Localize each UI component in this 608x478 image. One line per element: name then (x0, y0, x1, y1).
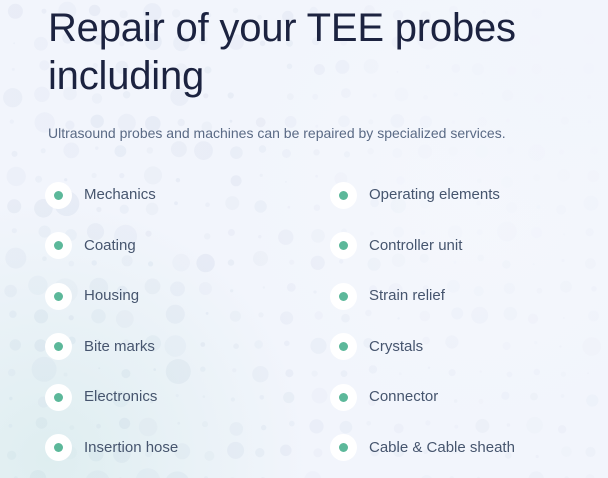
list-item-label: Electronics (84, 387, 157, 407)
list-item: Electronics (45, 372, 325, 423)
list-item: Operating elements (330, 170, 608, 221)
bullet-dot-icon (330, 333, 357, 360)
bullet-dot-icon (330, 384, 357, 411)
list-item-label: Housing (84, 286, 139, 306)
list-item: Connector (330, 372, 608, 423)
list-item: Strain relief (330, 271, 608, 322)
list-item-label: Mechanics (84, 185, 156, 205)
list-item-label: Insertion hose (84, 438, 178, 458)
list-item-label: Connector (369, 387, 438, 407)
list-item: Cable & Cable sheath (330, 423, 608, 474)
list-item: Insertion hose (45, 423, 325, 474)
page-title: Repair of your TEE probes including (48, 4, 568, 100)
list-item-label: Cable & Cable sheath (369, 438, 515, 458)
list-item-label: Crystals (369, 337, 423, 357)
bullet-dot-icon (45, 232, 72, 259)
bullet-dot-icon (330, 232, 357, 259)
list-item-label: Bite marks (84, 337, 155, 357)
bullet-dot-icon (45, 283, 72, 310)
list-item-label: Strain relief (369, 286, 445, 306)
feature-column-left: Mechanics Coating Housing Bite marks Ele… (45, 170, 325, 473)
bullet-dot-icon (330, 283, 357, 310)
bullet-dot-icon (330, 434, 357, 461)
bullet-dot-icon (45, 182, 72, 209)
bullet-dot-icon (330, 182, 357, 209)
list-item: Crystals (330, 322, 608, 373)
list-item-label: Operating elements (369, 185, 500, 205)
list-item: Coating (45, 221, 325, 272)
section-subtitle: Ultrasound probes and machines can be re… (48, 123, 578, 143)
repair-services-section: Repair of your TEE probes including Ultr… (0, 0, 608, 478)
bullet-dot-icon (45, 333, 72, 360)
list-item-label: Coating (84, 236, 136, 256)
bullet-dot-icon (45, 434, 72, 461)
list-item: Mechanics (45, 170, 325, 221)
list-item: Bite marks (45, 322, 325, 373)
feature-column-right: Operating elements Controller unit Strai… (330, 170, 608, 473)
list-item-label: Controller unit (369, 236, 462, 256)
list-item: Controller unit (330, 221, 608, 272)
list-item: Housing (45, 271, 325, 322)
bullet-dot-icon (45, 384, 72, 411)
